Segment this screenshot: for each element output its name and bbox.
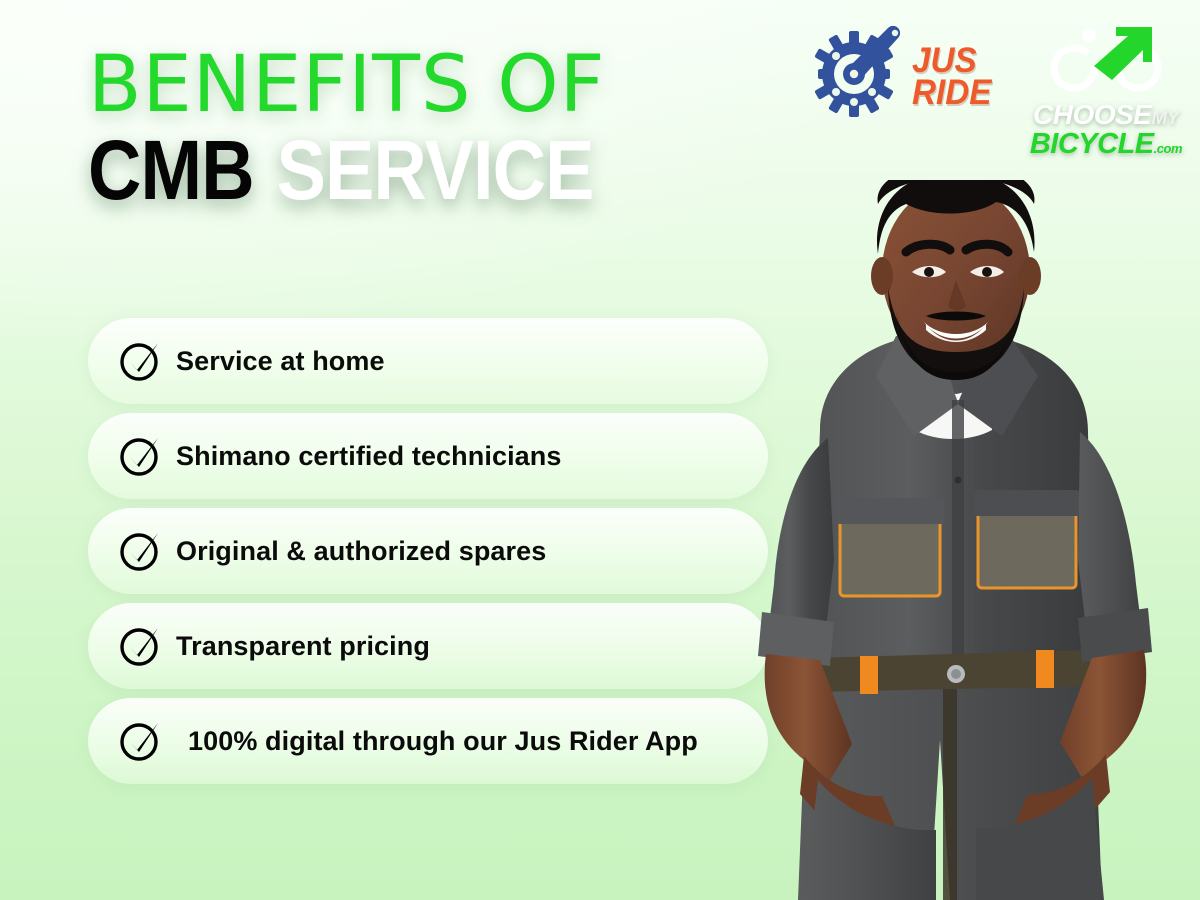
dotcom-text: .com: [1154, 141, 1182, 156]
circled-check-icon: [118, 529, 162, 573]
benefit-label-2: Shimano certified technicians: [176, 441, 562, 472]
choosemybicycle-logo[interactable]: CHOOSEMY BICYCLE.com: [1030, 22, 1182, 159]
headline-line-1: BENEFITS OF: [88, 48, 663, 122]
logo-row: JUS RIDE CHOOSEMY BICYCLE.com: [810, 22, 1182, 159]
headline-line-2: CMBSERVICE: [88, 130, 594, 211]
benefit-label-1: Service at home: [176, 346, 385, 377]
choosemybicycle-line-1: CHOOSEMY: [1033, 101, 1179, 129]
bicycle-text: BICYCLE: [1030, 128, 1154, 160]
circled-check-icon: [118, 624, 162, 668]
poster-canvas: BENEFITS OF CMBSERVICE: [0, 0, 1200, 900]
headline-block: BENEFITS OF CMBSERVICE: [88, 48, 663, 211]
technician-photo: [700, 180, 1200, 900]
bicycle-arrow-icon: [1042, 22, 1170, 101]
benefit-item-2[interactable]: Shimano certified technicians: [88, 413, 768, 499]
jus-ride-line-2: RIDE: [912, 77, 991, 109]
benefit-label-4: Transparent pricing: [176, 631, 430, 662]
choose-text: CHOOSE: [1033, 99, 1151, 130]
circled-check-icon: [118, 719, 162, 763]
jus-ride-logo[interactable]: JUS RIDE: [810, 22, 996, 131]
benefit-item-1[interactable]: Service at home: [88, 318, 768, 404]
my-text: MY: [1151, 108, 1179, 129]
benefit-label-3: Original & authorized spares: [176, 536, 546, 567]
chainring-crank-icon: [810, 22, 906, 131]
benefit-item-3[interactable]: Original & authorized spares: [88, 508, 768, 594]
choosemybicycle-line-2: BICYCLE.com: [1030, 130, 1182, 159]
jus-ride-wordmark: JUS RIDE: [912, 45, 996, 108]
circled-check-icon: [118, 434, 162, 478]
benefit-item-5[interactable]: 100% digital through our Jus Rider App: [88, 698, 768, 784]
headline-service: SERVICE: [277, 123, 594, 217]
circled-check-icon: [118, 339, 162, 383]
benefit-label-5: 100% digital through our Jus Rider App: [188, 726, 698, 757]
benefits-list: Service at home Shimano certified techni…: [88, 318, 768, 793]
benefit-item-4[interactable]: Transparent pricing: [88, 603, 768, 689]
headline-cmb: CMB: [88, 123, 254, 217]
